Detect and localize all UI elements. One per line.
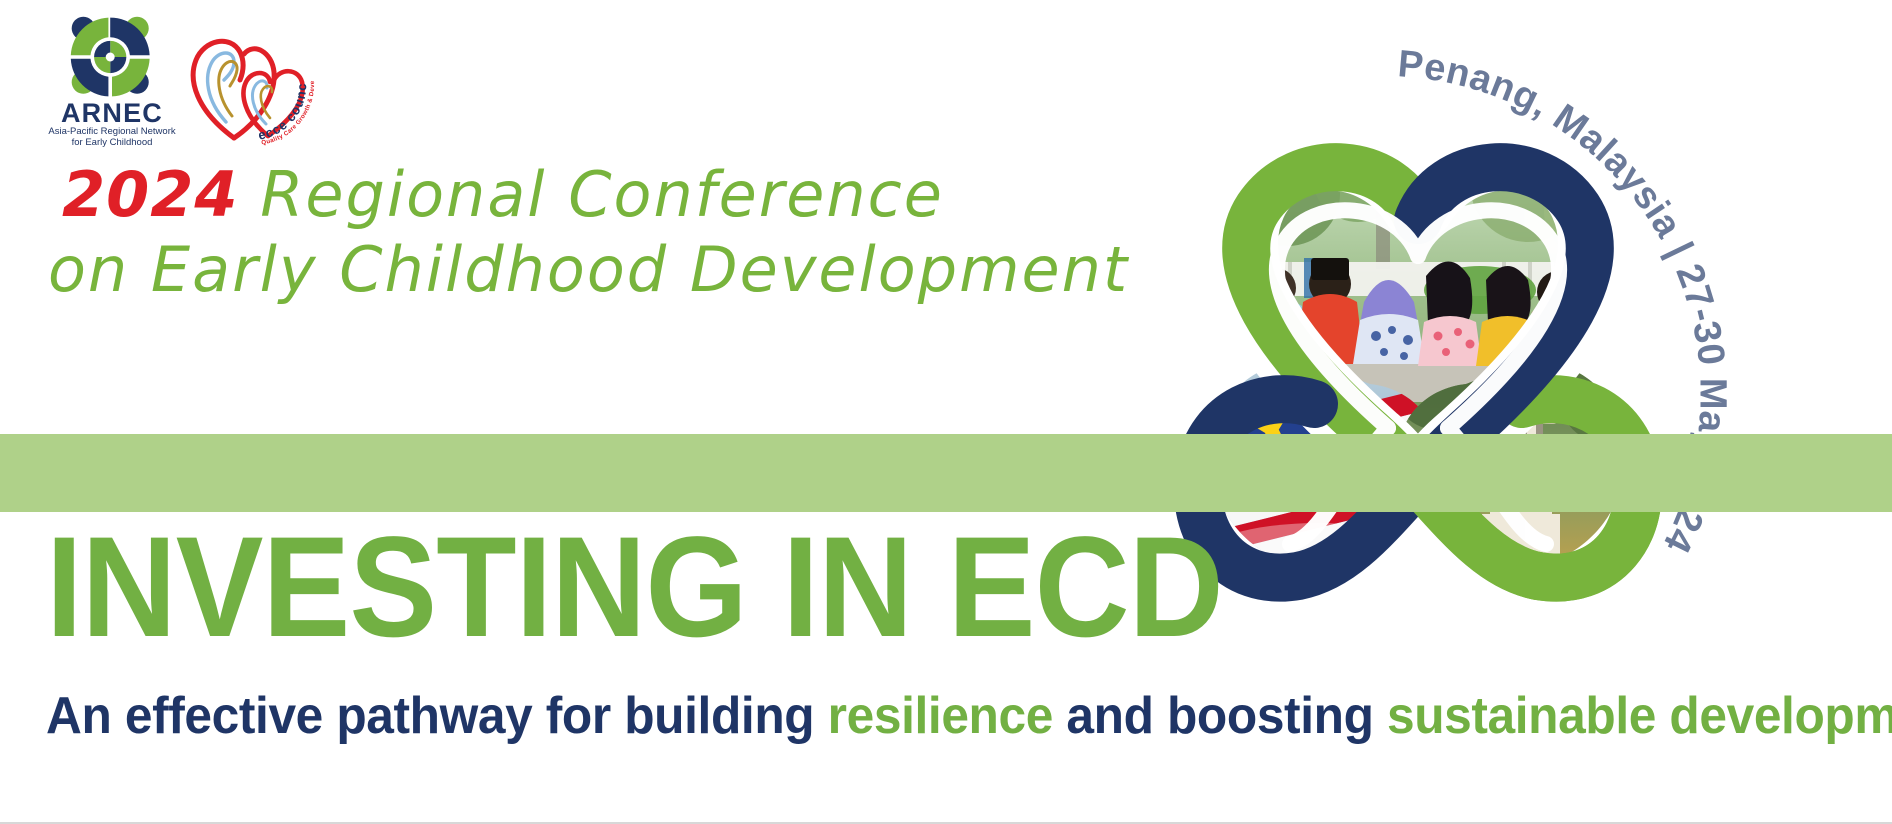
page-title: INVESTING IN ECD <box>46 516 1223 659</box>
arnec-people-circle-icon <box>66 14 158 100</box>
ecce-double-heart-icon: ecce council Quality Care Growth & Devel… <box>182 18 322 148</box>
logo-row: ARNEC Asia-Pacific Regional Network for … <box>52 14 322 154</box>
subtitle: An effective pathway for building resili… <box>46 690 1892 742</box>
green-accent-band <box>0 434 1892 512</box>
subtitle-accent-sustainable-development: sustainable development <box>1387 687 1892 745</box>
subtitle-accent-resilience: resilience <box>828 687 1053 745</box>
conference-title-line1-text: Regional Conference <box>260 158 944 231</box>
arnec-tagline: Asia-Pacific Regional Network for Early … <box>48 126 176 148</box>
arnec-logo[interactable]: ARNEC Asia-Pacific Regional Network for … <box>52 14 172 154</box>
ecce-council-logo[interactable]: ecce council Quality Care Growth & Devel… <box>182 18 322 148</box>
conference-year: 2024 <box>62 158 239 231</box>
arnec-wordmark: ARNEC <box>52 100 172 127</box>
subtitle-part2: and boosting <box>1053 687 1387 745</box>
arnec-tagline-line2: for Early Childhood <box>48 137 176 148</box>
subtitle-part1: An effective pathway for building <box>46 687 828 745</box>
conference-title-line2: on Early Childhood Development <box>48 241 948 300</box>
conference-title-line1: 2024 Regional Conference <box>62 166 948 225</box>
arnec-tagline-line1: Asia-Pacific Regional Network <box>48 126 176 137</box>
conference-banner: ARNEC Asia-Pacific Regional Network for … <box>0 0 1892 824</box>
conference-title: 2024 Regional Conference on Early Childh… <box>48 166 948 300</box>
